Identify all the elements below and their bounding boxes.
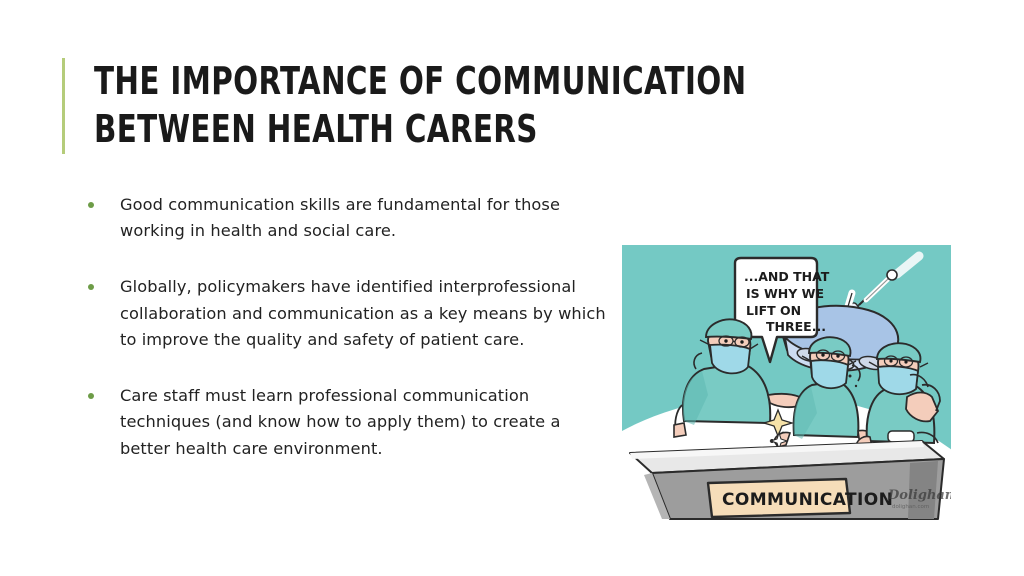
title-accent-bar	[62, 58, 65, 154]
bullet-dot-icon	[88, 284, 94, 290]
speech-line-2: IS WHY WE	[746, 286, 824, 301]
list-item: Care staff must learn professional commu…	[88, 383, 608, 462]
bullet-list: Good communication skills are fundamenta…	[88, 192, 608, 462]
bullet-text: Good communication skills are fundamenta…	[120, 192, 608, 244]
sign-label: COMMUNICATION	[722, 490, 893, 510]
svg-text:dolighan.com: dolighan.com	[892, 504, 929, 510]
speech-line-3: LIFT ON	[746, 303, 801, 318]
bullet-dot-icon	[88, 393, 94, 399]
list-item: Globally, policymakers have identified i…	[88, 274, 608, 353]
operating-room-cartoon-image: ...AND THAT IS WHY WE LIFT ON THREE...	[622, 245, 951, 521]
svg-text:Dolighan: Dolighan	[887, 488, 951, 503]
speech-line-4: THREE...	[766, 319, 826, 334]
speech-line-1: ...AND THAT	[744, 269, 830, 284]
slide-canvas: The importance of communication between …	[0, 0, 1024, 576]
slide-title-block: The importance of communication between …	[62, 58, 902, 154]
bullet-dot-icon	[88, 202, 94, 208]
page-title: The importance of communication between …	[94, 58, 789, 154]
bullet-text: Globally, policymakers have identified i…	[120, 274, 608, 353]
bullet-text: Care staff must learn professional commu…	[120, 383, 608, 462]
list-item: Good communication skills are fundamenta…	[88, 192, 608, 244]
